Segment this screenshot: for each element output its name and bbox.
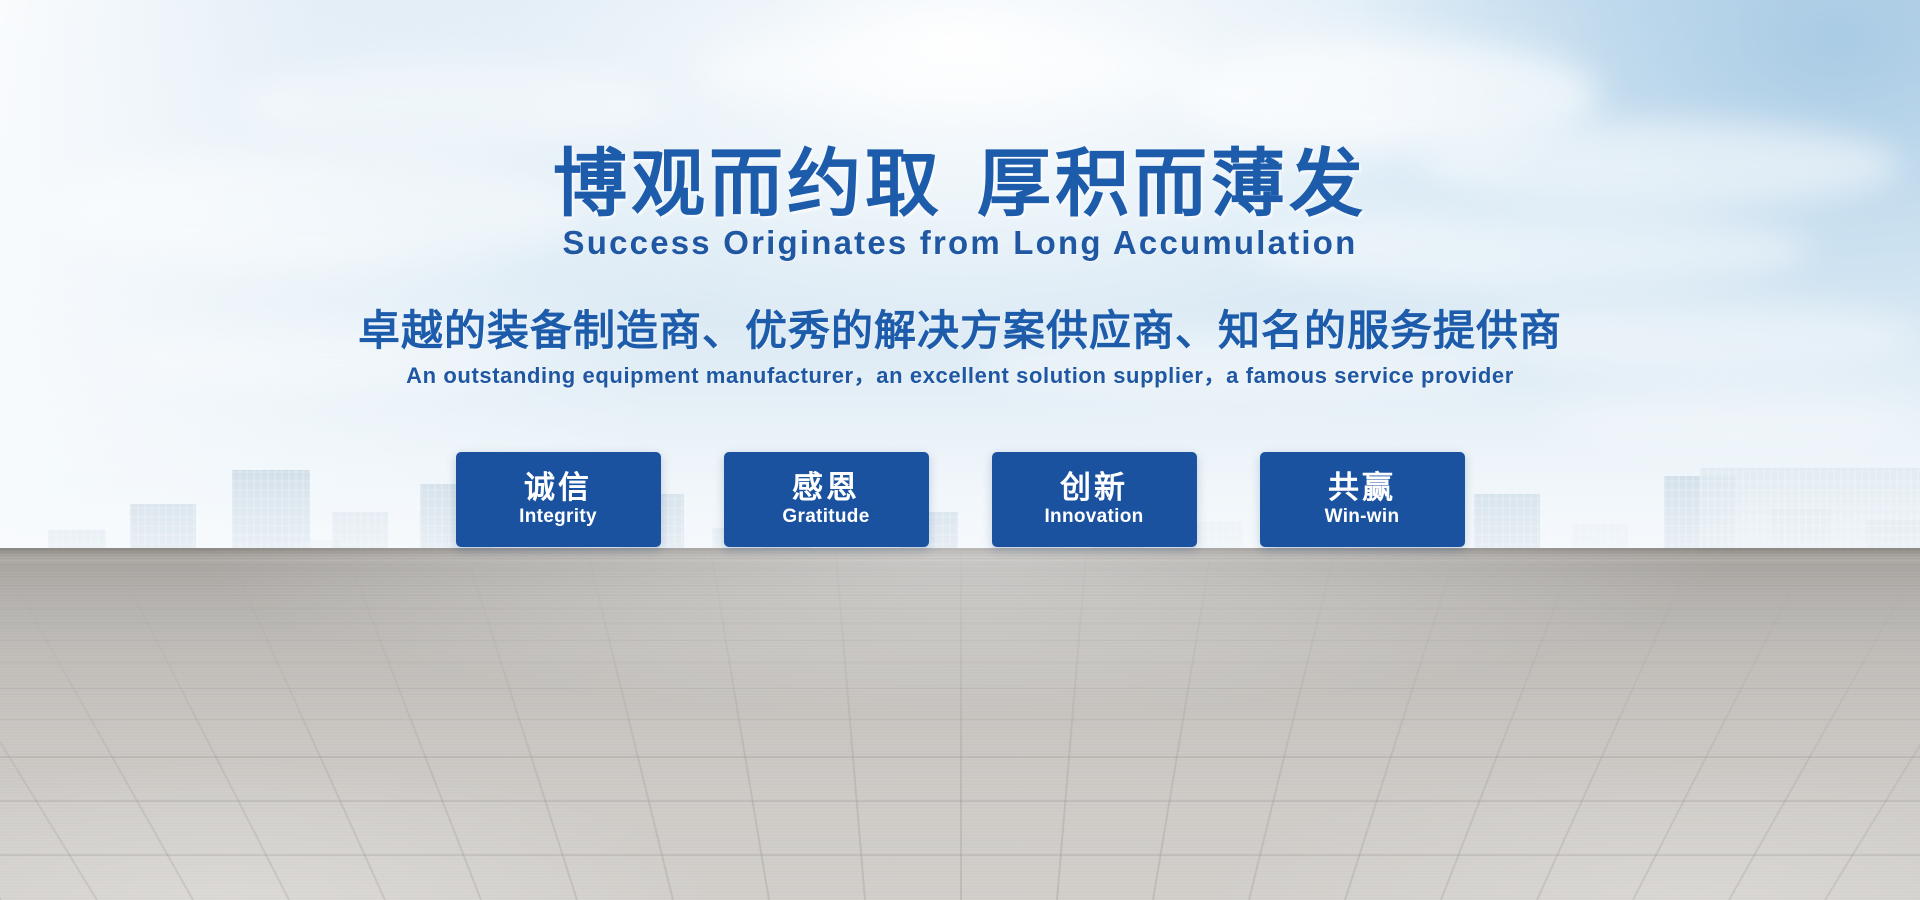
value-label-en: Gratitude	[782, 507, 869, 528]
hero-banner: 博观而约取厚积而薄发 Success Originates from Long …	[0, 0, 1920, 900]
value-label-en: Integrity	[519, 507, 597, 528]
value-box-win-win[interactable]: 共赢Win-win	[1260, 452, 1465, 547]
tagline-cn: 卓越的装备制造商、优秀的解决方案供应商、知名的服务提供商	[0, 297, 1920, 358]
value-label-cn: 创新	[1060, 471, 1128, 504]
value-label-cn: 诚信	[524, 471, 592, 504]
banner-content: 博观而约取厚积而薄发 Success Originates from Long …	[0, 0, 1920, 900]
value-label-en: Win-win	[1325, 507, 1400, 528]
value-label-cn: 共赢	[1328, 471, 1396, 504]
headline-cn-part1: 博观而约取	[553, 142, 943, 225]
tagline-en: An outstanding equipment manufacturer，an…	[0, 358, 1920, 390]
page-title: 博观而约取厚积而薄发	[0, 124, 1920, 231]
value-label-cn: 感恩	[792, 471, 860, 504]
headline-subtitle-en: Success Originates from Long Accumulatio…	[0, 224, 1920, 262]
value-label-en: Innovation	[1044, 507, 1143, 528]
core-values-list: 诚信Integrity感恩Gratitude创新Innovation共赢Win-…	[0, 452, 1920, 547]
value-box-integrity[interactable]: 诚信Integrity	[456, 452, 661, 547]
value-box-innovation[interactable]: 创新Innovation	[992, 452, 1197, 547]
headline-cn-part2: 厚积而薄发	[977, 142, 1367, 225]
value-box-gratitude[interactable]: 感恩Gratitude	[724, 452, 929, 547]
